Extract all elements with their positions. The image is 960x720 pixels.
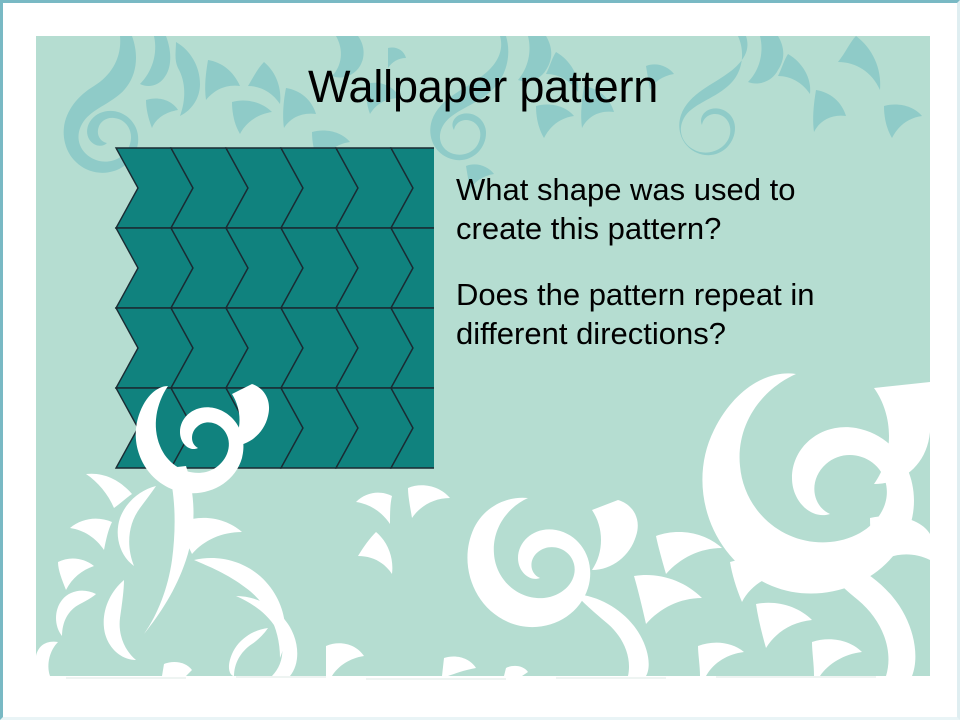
slide-title: Wallpaper pattern	[36, 63, 930, 110]
tessellation-svg	[94, 146, 434, 482]
tessellation-pattern	[94, 146, 434, 482]
slide-reflection	[36, 676, 930, 690]
body-paragraph-2: Does the pattern repeat in different dir…	[456, 275, 886, 353]
slide-body-text: What shape was used to create this patte…	[456, 170, 886, 353]
slide-canvas: Wallpaper pattern What shape was used to…	[36, 36, 930, 676]
reflection-svg	[36, 676, 930, 690]
paragraph-spacer	[456, 248, 886, 275]
presentation-page: Wallpaper pattern What shape was used to…	[0, 0, 960, 720]
body-paragraph-1: What shape was used to create this patte…	[456, 170, 886, 248]
tile-group	[116, 148, 434, 468]
